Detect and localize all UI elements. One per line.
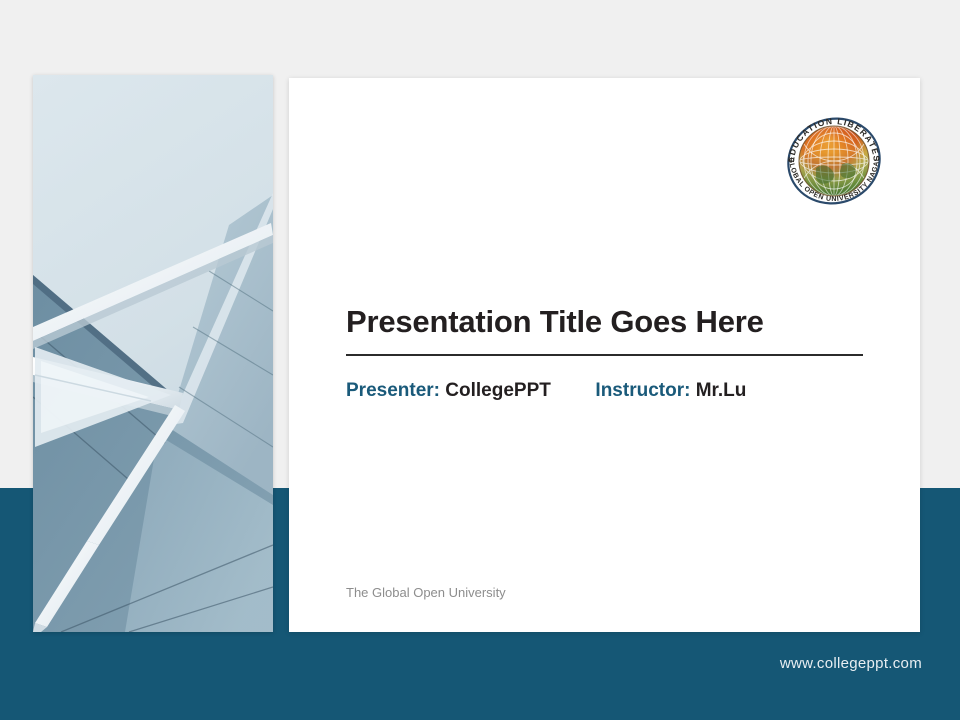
site-url: www.collegeppt.com [780, 655, 922, 672]
page-title: Presentation Title Goes Here [346, 303, 863, 340]
title-divider [346, 354, 863, 356]
presenter-label: Presenter: [346, 380, 440, 401]
title-block: Presentation Title Goes Here Presenter: … [346, 303, 863, 402]
card-footer-text: The Global Open University [346, 585, 506, 600]
globe-logo-graphic: EDUCATION LIBERATES THE GLOBAL OPEN UNIV… [780, 106, 888, 214]
presentation-slide: www.collegeppt.com [0, 0, 960, 720]
presenter-instructor-row: Presenter: CollegePPT Instructor: Mr.Lu [346, 380, 863, 402]
instructor-label: Instructor: [595, 380, 690, 401]
presenter-value: CollegePPT [445, 380, 551, 401]
architecture-photo-graphic [33, 75, 273, 632]
slide-content-card: EDUCATION LIBERATES THE GLOBAL OPEN UNIV… [289, 78, 920, 632]
globe-logo: EDUCATION LIBERATES THE GLOBAL OPEN UNIV… [780, 106, 888, 214]
architecture-photo [33, 75, 273, 632]
instructor-value: Mr.Lu [696, 380, 747, 401]
